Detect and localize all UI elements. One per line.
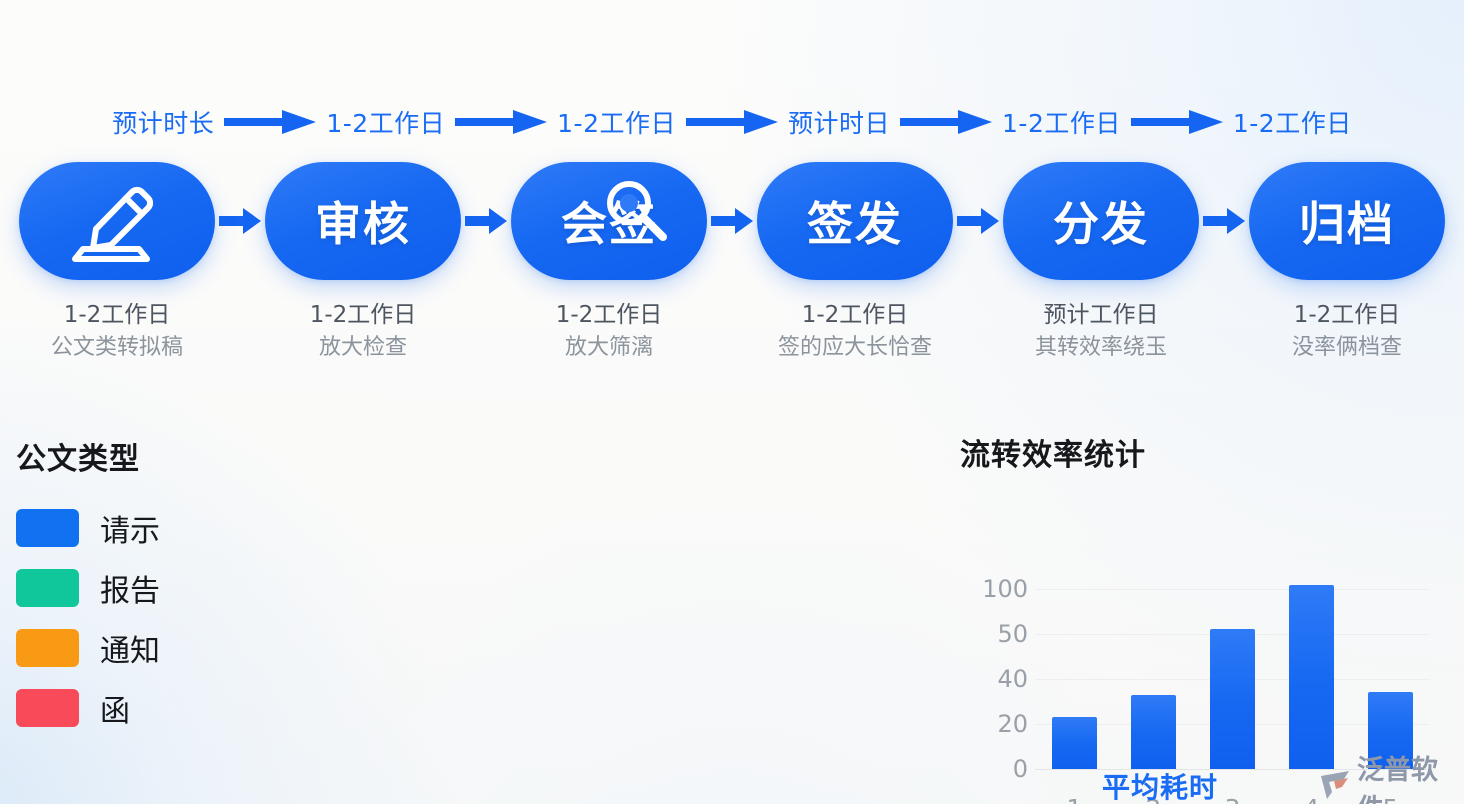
chart-title: 流转效率统计 xyxy=(960,430,1430,474)
flow-caption: 1-2工作日 放大筛漓 xyxy=(511,298,707,378)
legend-label: 函 xyxy=(100,686,130,730)
arrow-right-icon xyxy=(219,206,261,236)
step-description: 放大检查 xyxy=(265,332,461,364)
step-duration: 预计工作日 xyxy=(1003,298,1199,332)
flow-step-review[interactable]: 审核 xyxy=(265,162,461,280)
step-duration: 1-2工作日 xyxy=(1249,298,1445,332)
top-duration-3: 预计时日 xyxy=(788,104,890,140)
arrow-right-icon xyxy=(957,206,999,236)
step-duration: 1-2工作日 xyxy=(265,298,461,332)
legend-item-han[interactable]: 函 xyxy=(16,678,346,738)
flow-caption: 1-2工作日 放大检查 xyxy=(265,298,461,378)
flow-step-issue[interactable]: 签发 xyxy=(757,162,953,280)
flow-step-label: 签发 xyxy=(807,188,903,254)
chart-gridline xyxy=(1035,589,1430,590)
top-duration-5: 1-2工作日 xyxy=(1233,104,1352,140)
chart-bar[interactable] xyxy=(1289,585,1334,769)
flow-step-label: 会签 xyxy=(561,188,657,254)
top-duration-2: 1-2工作日 xyxy=(557,104,676,140)
fanpu-logo-icon xyxy=(1318,770,1352,804)
legend-title: 公文类型 xyxy=(16,434,346,478)
chart-bar[interactable] xyxy=(1210,629,1255,769)
step-description: 签的应大长恰查 xyxy=(757,332,953,364)
step-duration: 1-2工作日 xyxy=(757,298,953,332)
flow-step-label: 审核 xyxy=(315,188,411,254)
legend-label: 请示 xyxy=(100,506,160,550)
flow-step-countersign[interactable]: 会签 xyxy=(511,162,707,280)
flow-step-distribute[interactable]: 分发 xyxy=(1003,162,1199,280)
legend-item-qingshi[interactable]: 请示 xyxy=(16,498,346,558)
flow-caption-row: 1-2工作日 公文类转拟稿 1-2工作日 放大检查 1-2工作日 放大筛漓 1-… xyxy=(0,298,1464,378)
chart-y-tick: 40 xyxy=(997,665,1028,693)
chart-y-tick: 100 xyxy=(982,575,1028,603)
arrow-right-icon xyxy=(455,109,547,135)
step-description: 没率俩档查 xyxy=(1249,332,1445,364)
step-description: 公文类转拟稿 xyxy=(19,332,215,364)
arrow-right-icon xyxy=(1131,109,1223,135)
arrow-right-icon xyxy=(465,206,507,236)
top-duration-1: 1-2工作日 xyxy=(326,104,445,140)
legend-label: 通知 xyxy=(100,626,160,670)
flow-caption: 1-2工作日 公文类转拟稿 xyxy=(19,298,215,378)
legend-swatch xyxy=(16,629,79,667)
step-duration: 1-2工作日 xyxy=(19,298,215,332)
flow-top-duration-row: 预计时长 1-2工作日 1-2工作日 预计时日 1-2工作日 1-2工作日 xyxy=(0,98,1464,146)
step-duration: 1-2工作日 xyxy=(511,298,707,332)
vendor-watermark: 泛普软件 www.fanpusoft.com xyxy=(1318,748,1458,800)
flow-step-draft[interactable] xyxy=(19,162,215,280)
arrow-right-icon xyxy=(900,109,992,135)
chart-y-tick: 50 xyxy=(997,620,1028,648)
chart-plot-area: 100504020012345 xyxy=(960,502,1430,717)
watermark-row: 泛普软件 xyxy=(1318,748,1458,804)
flow-step-label: 分发 xyxy=(1053,188,1149,254)
flow-caption: 1-2工作日 签的应大长恰查 xyxy=(757,298,953,378)
legend-item-baogao[interactable]: 报告 xyxy=(16,558,346,618)
arrow-right-icon xyxy=(711,206,753,236)
step-description: 其转效率绕玉 xyxy=(1003,332,1199,364)
efficiency-chart-panel: 流转效率统计 100504020012345 平均耗时 xyxy=(960,430,1430,800)
chart-bar[interactable] xyxy=(1052,717,1097,769)
chart-bar[interactable] xyxy=(1131,695,1176,769)
flow-step-archive[interactable]: 归档 xyxy=(1249,162,1445,280)
chart-y-tick: 20 xyxy=(997,710,1028,738)
legend-swatch xyxy=(16,689,79,727)
legend-swatch xyxy=(16,509,79,547)
flow-caption: 1-2工作日 没率俩档查 xyxy=(1249,298,1445,378)
pencil-write-icon xyxy=(69,175,165,268)
legend-item-tongzhi[interactable]: 通知 xyxy=(16,618,346,678)
document-type-legend: 公文类型 请示 报告 通知 函 xyxy=(16,434,346,738)
flow-step-label: 归档 xyxy=(1299,188,1395,254)
top-duration-4: 1-2工作日 xyxy=(1002,104,1121,140)
flow-step-row: 审核 会签 签发 分发 xyxy=(0,160,1464,282)
arrow-right-icon xyxy=(1203,206,1245,236)
flow-caption: 预计工作日 其转效率绕玉 xyxy=(1003,298,1199,378)
legend-label: 报告 xyxy=(100,566,160,610)
watermark-name: 泛普软件 xyxy=(1357,748,1458,804)
step-description: 放大筛漓 xyxy=(511,332,707,364)
chart-x-axis-label: 平均耗时 xyxy=(960,766,1360,804)
page-background: 预计时长 1-2工作日 1-2工作日 预计时日 1-2工作日 1-2工作日 xyxy=(0,0,1464,804)
arrow-right-icon xyxy=(686,109,778,135)
legend-swatch xyxy=(16,569,79,607)
top-duration-0: 预计时长 xyxy=(112,104,214,140)
arrow-right-icon xyxy=(224,109,316,135)
